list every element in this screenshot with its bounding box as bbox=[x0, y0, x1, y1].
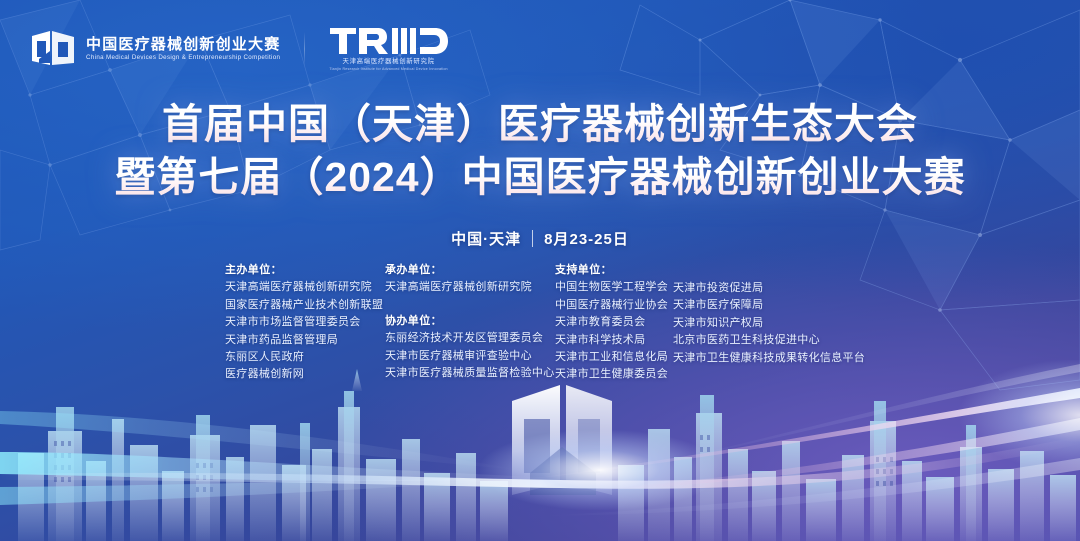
competition-logo-subtitle: China Medical Devices Design & Entrepren… bbox=[86, 54, 280, 61]
organizer-item: 医疗器械创新网 bbox=[225, 366, 385, 383]
organizer-item: 中国生物医学工程学会 bbox=[555, 279, 673, 296]
organizer-column-2: 承办单位： 天津高端医疗器械创新研究院 协办单位： 东丽经济技术开发区管理委员会… bbox=[385, 262, 555, 382]
organizer-item: 天津市卫生健康委员会 bbox=[555, 366, 673, 383]
organizer-item: 天津市科学技术局 bbox=[555, 332, 673, 349]
header-divider bbox=[304, 32, 305, 66]
competition-emblem-icon bbox=[30, 29, 76, 69]
organizer-group: 支持单位： 中国生物医学工程学会 中国医疗器械行业协会 天津市教育委员会 天津市… bbox=[555, 262, 673, 384]
meta-separator bbox=[532, 230, 533, 247]
organizer-item: 天津市卫生健康科技成果转化信息平台 bbox=[673, 350, 883, 367]
institute-name-en: Tianjin Research Institute for Advanced … bbox=[329, 68, 447, 72]
competition-logo-title: 中国医疗器械创新创业大赛 bbox=[86, 37, 280, 53]
banner-header: 中国医疗器械创新创业大赛 China Medical Devices Desig… bbox=[30, 26, 448, 72]
organizer-item: 北京市医药卫生科技促进中心 bbox=[673, 332, 883, 349]
competition-logo-emblem bbox=[512, 385, 612, 495]
competition-logo: 中国医疗器械创新创业大赛 China Medical Devices Desig… bbox=[30, 29, 280, 69]
organizer-item: 天津市知识产权局 bbox=[673, 315, 883, 332]
organizer-column-3: 支持单位： 中国生物医学工程学会 中国医疗器械行业协会 天津市教育委员会 天津市… bbox=[555, 262, 673, 384]
organizer-group: 承办单位： 天津高端医疗器械创新研究院 bbox=[385, 262, 555, 297]
organizer-item: 天津高端医疗器械创新研究院 bbox=[385, 279, 555, 296]
event-date: 8月23-25日 bbox=[544, 228, 629, 249]
event-location: 中国·天津 bbox=[451, 228, 521, 249]
organizer-item: 东丽区人民政府 bbox=[225, 349, 385, 366]
institute-name-cn: 天津高端医疗器械创新研究院 bbox=[342, 59, 434, 65]
title-line-2: 暨第七届（2024）中国医疗器械创新创业大赛 bbox=[0, 151, 1080, 204]
organizer-item: 东丽经济技术开发区管理委员会 bbox=[385, 330, 555, 347]
organizer-item: 天津高端医疗器械创新研究院 bbox=[225, 279, 385, 296]
horizon-glow bbox=[480, 430, 720, 510]
organizer-heading: 协办单位： bbox=[385, 313, 555, 330]
organizer-item: 天津市投资促进局 bbox=[673, 280, 883, 297]
organizer-column-4: 天津市投资促进局 天津市医疗保障局 天津市知识产权局 北京市医药卫生科技促进中心… bbox=[673, 262, 883, 367]
event-meta: 中国·天津 8月23-25日 bbox=[0, 228, 1080, 249]
organizer-item: 天津市工业和信息化局 bbox=[555, 349, 673, 366]
title-line-1: 首届中国（天津）医疗器械创新生态大会 bbox=[0, 98, 1080, 151]
organizer-item: 天津市教育委员会 bbox=[555, 314, 673, 331]
organizer-group: 协办单位： 东丽经济技术开发区管理委员会 天津市医疗器械审评查验中心 天津市医疗… bbox=[385, 313, 555, 383]
event-meta-inner: 中国·天津 8月23-25日 bbox=[451, 228, 629, 249]
organizer-item: 天津市药品监督管理局 bbox=[225, 332, 385, 349]
city-skyline-silhouette bbox=[0, 361, 1080, 541]
organizer-item: 天津市医疗保障局 bbox=[673, 297, 883, 314]
organizer-item: 中国医疗器械行业协会 bbox=[555, 297, 673, 314]
organizer-group: 天津市投资促进局 天津市医疗保障局 天津市知识产权局 北京市医药卫生科技促进中心… bbox=[673, 280, 883, 367]
organizer-heading: 支持单位： bbox=[555, 262, 673, 279]
right-glow bbox=[960, 360, 1080, 470]
triid-wordmark-icon bbox=[330, 26, 448, 56]
organizer-column-1: 主办单位： 天津高端医疗器械创新研究院 国家医疗器械产业技术创新联盟 天津市市场… bbox=[225, 262, 385, 384]
organizer-item: 天津市医疗器械审评查验中心 bbox=[385, 348, 555, 365]
organizer-item: 天津市市场监督管理委员会 bbox=[225, 314, 385, 331]
institute-logo: 天津高端医疗器械创新研究院 Tianjin Research Institute… bbox=[329, 26, 447, 72]
organizer-heading: 承办单位： bbox=[385, 262, 555, 279]
main-title: 首届中国（天津）医疗器械创新生态大会 暨第七届（2024）中国医疗器械创新创业大… bbox=[0, 98, 1080, 205]
organizer-heading: 主办单位： bbox=[225, 262, 385, 279]
organizer-list: 主办单位： 天津高端医疗器械创新研究院 国家医疗器械产业技术创新联盟 天津市市场… bbox=[225, 262, 883, 384]
organizer-group: 主办单位： 天津高端医疗器械创新研究院 国家医疗器械产业技术创新联盟 天津市市场… bbox=[225, 262, 385, 384]
organizer-item: 国家医疗器械产业技术创新联盟 bbox=[225, 297, 385, 314]
organizer-item: 天津市医疗器械质量监督检验中心 bbox=[385, 365, 555, 382]
conference-banner: 中国医疗器械创新创业大赛 China Medical Devices Desig… bbox=[0, 0, 1080, 541]
